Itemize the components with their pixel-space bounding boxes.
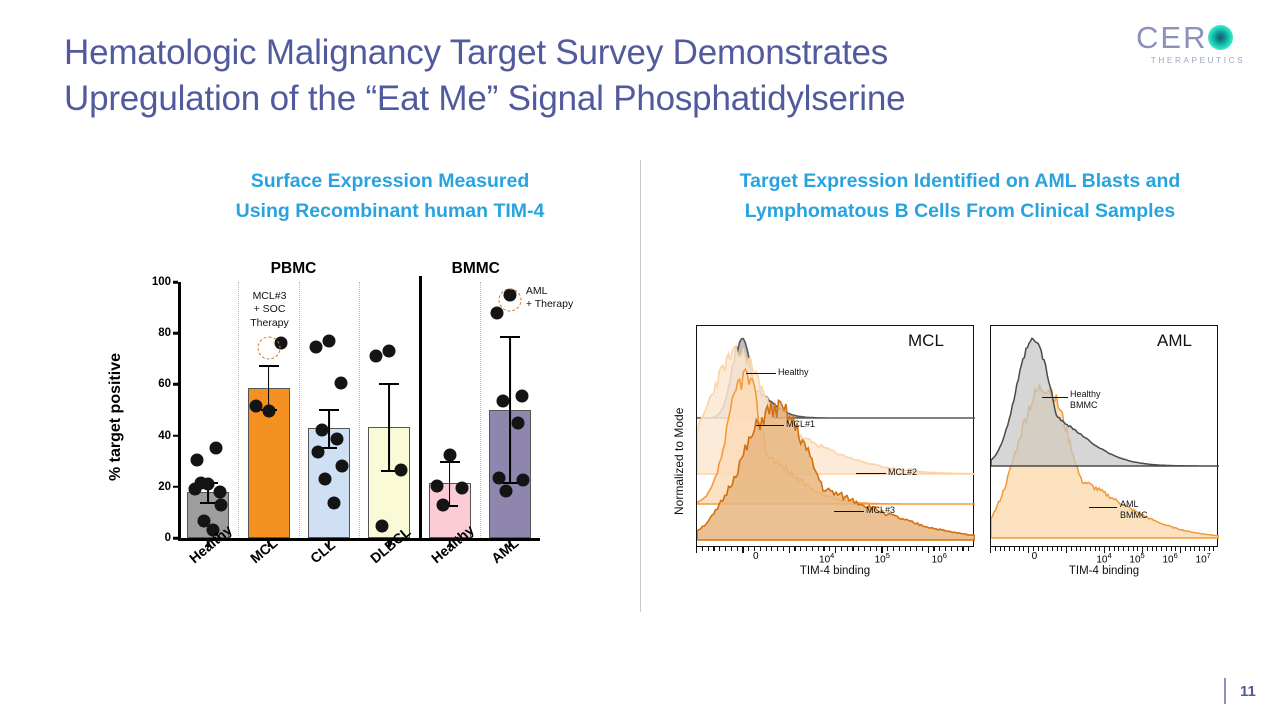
error-bar-cap (259, 365, 279, 367)
flow-axis-tick-strip-1 (990, 547, 1218, 554)
error-bar-cap (319, 409, 339, 411)
data-point (318, 473, 331, 486)
data-point (499, 484, 512, 497)
y-axis-tick-label: 80 (131, 327, 178, 339)
aml-histogram-svg (991, 326, 1219, 548)
column-divider (640, 160, 641, 612)
data-point (311, 446, 324, 459)
data-point (249, 400, 262, 413)
data-point (315, 424, 328, 437)
group-separator-solid (419, 276, 422, 538)
data-point (436, 498, 449, 511)
flow-aml-annotation-0: Healthy BMMC (1070, 389, 1101, 411)
data-point (215, 498, 228, 511)
flow-panel-mcl: Normalized to Mode MCL TIM-4 binding 010… (660, 315, 990, 590)
data-point (191, 453, 204, 466)
highlight-ring-mcl (257, 337, 280, 360)
data-point (195, 476, 208, 489)
slide-canvas: Hematologic Malignancy Target Survey Dem… (0, 0, 1280, 720)
data-point (383, 345, 396, 358)
data-point (214, 485, 227, 498)
data-point (492, 471, 505, 484)
group-header-pbmc: PBMC (271, 260, 317, 278)
bar-chart-x-axis (178, 538, 540, 541)
data-point (511, 416, 524, 429)
cero-therapeutics-logo: CER THERAPEUTICS (1136, 22, 1260, 74)
error-bar-cap (440, 461, 460, 463)
error-bar (449, 461, 451, 505)
page-title: Hematologic Malignancy Target Survey Dem… (64, 30, 1084, 122)
flow-mcl-annotation-0: Healthy (778, 367, 809, 378)
section-header-right: Target Expression Identified on AML Blas… (660, 166, 1260, 226)
flow-mcl-leader-line-2 (856, 473, 886, 474)
flow-aml-title: AML (1157, 331, 1192, 351)
error-bar (388, 383, 390, 470)
logo-wordmark: CER (1136, 22, 1260, 53)
data-point (370, 350, 383, 363)
bar-chart: % target positive 020406080100 HealthyMC… (120, 258, 570, 618)
data-point (430, 479, 443, 492)
flow-mcl-leader-line-3 (834, 511, 864, 512)
data-point (443, 448, 456, 461)
group-separator-dotted (480, 282, 481, 538)
mcl-histogram-svg (697, 326, 975, 548)
flow-aml-annotation-1: AML BMMC (1120, 499, 1148, 521)
data-point (395, 464, 408, 477)
data-point (262, 405, 275, 418)
data-point (330, 433, 343, 446)
data-point (327, 497, 340, 510)
flow-aml-leader-line-1 (1089, 507, 1117, 508)
data-point (335, 460, 348, 473)
flow-axis-tick-strip-0 (696, 547, 974, 554)
data-point (334, 377, 347, 390)
y-axis-tick-label: 100 (131, 276, 178, 288)
y-axis-tick-label: 40 (131, 430, 178, 442)
highlight-ring-aml (498, 288, 521, 311)
flow-aml-plot-area (990, 325, 1218, 547)
error-bar (328, 409, 330, 447)
data-point (515, 389, 528, 402)
data-point (455, 482, 468, 495)
flow-mcl-x-axis-label: TIM-4 binding (696, 565, 974, 577)
flow-mcl-y-axis-label: Normalized to Mode (672, 408, 686, 515)
error-bar-cap (500, 336, 520, 338)
histogram-trace-healthy-bmmc (991, 338, 1219, 466)
logo-tagline: THERAPEUTICS (1136, 56, 1260, 65)
flow-mcl-annotation-1: MCL#1 (786, 419, 815, 430)
error-bar (268, 365, 270, 409)
group-header-bmmc: BMMC (452, 260, 500, 278)
data-point (496, 395, 509, 408)
data-point (376, 520, 389, 533)
flow-mcl-leader-line-0 (746, 373, 776, 374)
flow-mcl-plot-area (696, 325, 974, 547)
flow-mcl-annotation-3: MCL#3 (866, 505, 895, 516)
error-bar (509, 336, 511, 482)
y-axis-tick-label: 20 (131, 481, 178, 493)
flow-aml-x-axis-label: TIM-4 binding (990, 565, 1218, 577)
group-separator-dotted (359, 282, 360, 538)
bar-chart-y-axis-label: % target positive (107, 353, 125, 481)
flow-mcl-annotation-2: MCL#2 (888, 467, 917, 478)
annotation-mcl3-soc-therapy: MCL#3 + SOC Therapy (233, 290, 307, 331)
flow-mcl-leader-line-1 (756, 425, 784, 426)
y-axis-tick-label: 60 (131, 378, 178, 390)
data-point (210, 442, 223, 455)
section-header-left: Surface Expression Measured Using Recomb… (155, 166, 625, 226)
y-axis-tick-label: 0 (131, 532, 178, 544)
error-bar-cap (379, 383, 399, 385)
footer-divider (1224, 678, 1226, 704)
flow-mcl-title: MCL (908, 331, 944, 351)
flow-aml-leader-line-0 (1042, 397, 1068, 398)
data-point (309, 341, 322, 354)
page-number: 11 (1240, 683, 1256, 700)
logo-wordmark-text: CER (1136, 22, 1207, 53)
flow-panel-aml: AML TIM-4 binding 0104105106107Healthy B… (985, 315, 1235, 590)
annotation-aml-therapy: AML + Therapy (526, 285, 598, 312)
data-point (516, 474, 529, 487)
data-point (322, 334, 335, 347)
logo-circle-icon (1208, 25, 1233, 50)
